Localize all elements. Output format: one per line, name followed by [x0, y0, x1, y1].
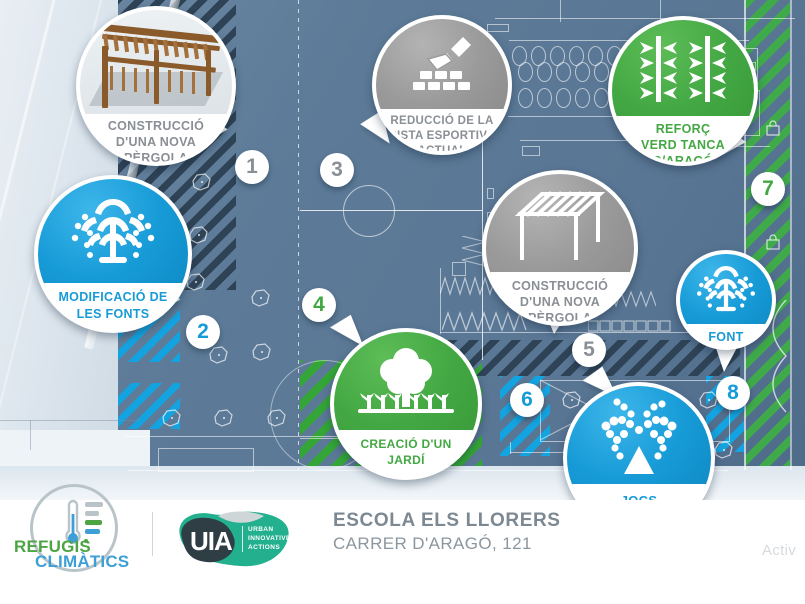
- gate-icon: [766, 234, 780, 250]
- badge-7[interactable]: 7: [751, 172, 785, 206]
- climbing-plants-icon: [612, 20, 754, 120]
- plan-line-lower-v: [510, 442, 511, 454]
- bubble-2-fonts[interactable]: MODIFICACIÓ DE LES FONTS: [34, 175, 192, 335]
- label-line: PÈRGOLA: [86, 150, 226, 166]
- tree-symbol: [250, 342, 272, 362]
- label-line: VERD TANCA: [618, 137, 748, 153]
- badge-number: 7: [762, 177, 774, 201]
- badge-number: 5: [583, 338, 595, 362]
- uia-logo: UIA URBAN INNOVATIVE ACTIONS: [172, 508, 294, 570]
- label-line: PISTA ESPORTIVA: [380, 129, 504, 144]
- plan-detail-box: [522, 146, 540, 156]
- label-line: LES FONTS: [44, 306, 182, 323]
- uia-tagline: URBAN INNOVATIVE ACTIONS: [248, 526, 291, 552]
- bubble-7-reforc-verd[interactable]: REFORÇ VERD TANCA C/ARAGÓ: [608, 16, 758, 176]
- bubble-4-jardi[interactable]: CREACIÓ D'UN JARDÍ: [330, 328, 482, 486]
- refugis-climatics-logo: REFUGIS CLIMÀTICS: [12, 482, 140, 574]
- building-line-v: [30, 420, 31, 450]
- gate-icon: [766, 120, 780, 136]
- building-line: [0, 420, 140, 421]
- uia-wordmark: UIA: [190, 526, 232, 557]
- bubble-2-label: MODIFICACIÓ DE LES FONTS: [38, 283, 188, 322]
- label-line: CREACIÓ D'UN: [340, 436, 472, 452]
- logo-dot: [84, 539, 88, 543]
- badge-3[interactable]: 3: [320, 153, 354, 187]
- badge-1[interactable]: 1: [235, 150, 269, 184]
- label-line: PÈRGOLA: [492, 310, 628, 326]
- pergola-photo: [80, 10, 232, 118]
- tree-garden-icon: [334, 332, 478, 434]
- school-address: CARRER D'ARAGÓ, 121: [333, 534, 561, 554]
- badge-4[interactable]: 4: [302, 288, 336, 322]
- fountain-icon: [38, 179, 188, 287]
- bubble-1-label: CONSTRUCCIÓ D'UNA NOVA PÈRGOLA: [80, 114, 232, 166]
- badge-number: 6: [521, 388, 533, 412]
- pergola-outline-icon: [486, 174, 634, 276]
- label-line: REDUCCIÓ DE LA: [380, 114, 504, 129]
- label-line: D'UNA NOVA: [492, 294, 628, 310]
- label-line: MODIFICACIÓ DE: [44, 289, 182, 306]
- badge-number: 8: [727, 381, 739, 405]
- footer-bar: REFUGIS CLIMÀTICS UIA URBAN INNOVAT: [0, 500, 805, 604]
- school-info: ESCOLA ELS LLORERS CARRER D'ARAGÓ, 121: [333, 510, 561, 554]
- label-line: REFORÇ: [618, 121, 748, 137]
- plan-wall-lower-v: [440, 268, 441, 334]
- uia-tagline-line: INNOVATIVE: [248, 535, 291, 544]
- tree-symbol: [207, 345, 229, 365]
- school-name: ESCOLA ELS LLORERS: [333, 510, 561, 532]
- badge-8[interactable]: 8: [716, 376, 750, 410]
- fence-line-outer: [790, 0, 792, 470]
- uia-tagline-line: ACTIONS: [248, 544, 291, 553]
- bubble-4-label: CREACIÓ D'UN JARDÍ: [334, 430, 478, 468]
- bubble-1-pergola[interactable]: CONSTRUCCIÓ D'UNA NOVA PÈRGOLA: [76, 6, 236, 168]
- badge-5[interactable]: 5: [572, 333, 606, 367]
- uia-separator: [242, 526, 243, 552]
- tree-symbol: [265, 408, 287, 428]
- bubble-5-label: CONSTRUCCIÓ D'UNA NOVA PÈRGOLA: [486, 272, 634, 326]
- bubble-3-pista[interactable]: REDUCCIÓ DE LA PISTA ESPORTIVA ACTUAL: [372, 15, 512, 165]
- logo-bars: [85, 502, 103, 538]
- tree-symbol: [190, 172, 212, 192]
- label-line: ACTUAL: [380, 144, 504, 155]
- court-center-circle: [343, 185, 395, 237]
- tree-symbol: [160, 408, 182, 428]
- goal-rect-left: [158, 448, 254, 472]
- uia-tagline-line: URBAN: [248, 526, 291, 535]
- bubble-7-label: REFORÇ VERD TANCA C/ARAGÓ: [612, 116, 754, 166]
- footer-divider: [152, 512, 153, 556]
- badge-6[interactable]: 6: [510, 383, 544, 417]
- tree-symbol: [712, 440, 734, 460]
- tree-symbol: [249, 288, 271, 308]
- label-line: FONT: [684, 329, 768, 345]
- tree-symbol: [212, 408, 234, 428]
- fountain-icon: [680, 254, 772, 326]
- water-jets-icon: [567, 386, 711, 488]
- bubble-8-font[interactable]: FONT: [676, 250, 776, 368]
- label-line: JARDÍ: [340, 452, 472, 468]
- plan-wall-v1: [560, 0, 561, 22]
- climatics-text: CLIMÀTICS: [35, 552, 129, 572]
- infographic-poster: CONSTRUCCIÓ D'UNA NOVA PÈRGOLA 1: [0, 0, 805, 604]
- bubble-8-label: FONT: [680, 324, 772, 345]
- bubble-3-label: REDUCCIÓ DE LA PISTA ESPORTIVA ACTUAL: [376, 109, 508, 155]
- bubble-5-pergola[interactable]: CONSTRUCCIÓ D'UNA NOVA PÈRGOLA: [482, 170, 638, 340]
- badge-number: 3: [331, 158, 343, 182]
- badge-number: 2: [197, 320, 209, 344]
- label-line: CONSTRUCCIÓ: [492, 278, 628, 294]
- label-line: CONSTRUCCIÓ: [86, 118, 226, 134]
- activation-watermark: Activ: [762, 542, 796, 559]
- trowel-bricks-icon: [376, 19, 508, 112]
- badge-2[interactable]: 2: [186, 315, 220, 349]
- badge-number: 1: [246, 155, 258, 179]
- label-line: D'UNA NOVA: [86, 134, 226, 150]
- badge-number: 4: [313, 293, 325, 317]
